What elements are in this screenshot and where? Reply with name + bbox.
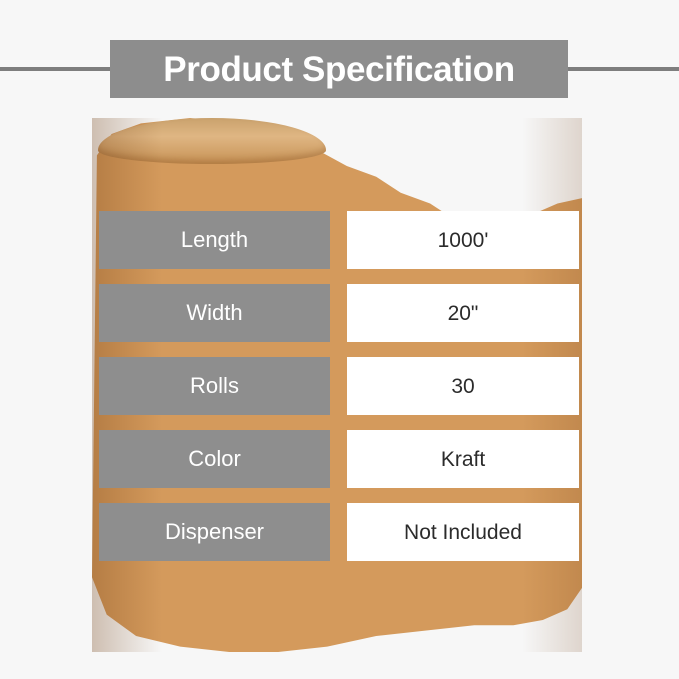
spec-value-length: 1000' <box>347 211 579 269</box>
specification-table: Length 1000' Width 20" Rolls 30 Color Kr… <box>99 211 579 561</box>
spec-value-width: 20" <box>347 284 579 342</box>
paper-roll-top-edge <box>98 118 326 164</box>
table-row: Dispenser Not Included <box>99 503 579 561</box>
title-banner: Product Specification <box>110 40 568 98</box>
column-gap <box>330 430 347 488</box>
column-gap <box>330 357 347 415</box>
spec-value-color: Kraft <box>347 430 579 488</box>
spec-label-dispenser: Dispenser <box>99 503 330 561</box>
spec-value-dispenser: Not Included <box>347 503 579 561</box>
column-gap <box>330 503 347 561</box>
product-specification-card: Product Specification Length 1000' Width… <box>0 0 679 679</box>
spec-label-length: Length <box>99 211 330 269</box>
table-row: Color Kraft <box>99 430 579 488</box>
column-gap <box>330 211 347 269</box>
spec-label-color: Color <box>99 430 330 488</box>
table-row: Length 1000' <box>99 211 579 269</box>
spec-value-rolls: 30 <box>347 357 579 415</box>
page-title: Product Specification <box>163 52 514 87</box>
table-row: Rolls 30 <box>99 357 579 415</box>
header-rule-left <box>0 67 112 71</box>
column-gap <box>330 284 347 342</box>
spec-label-rolls: Rolls <box>99 357 330 415</box>
spec-label-width: Width <box>99 284 330 342</box>
header-rule-right <box>566 67 679 71</box>
table-row: Width 20" <box>99 284 579 342</box>
